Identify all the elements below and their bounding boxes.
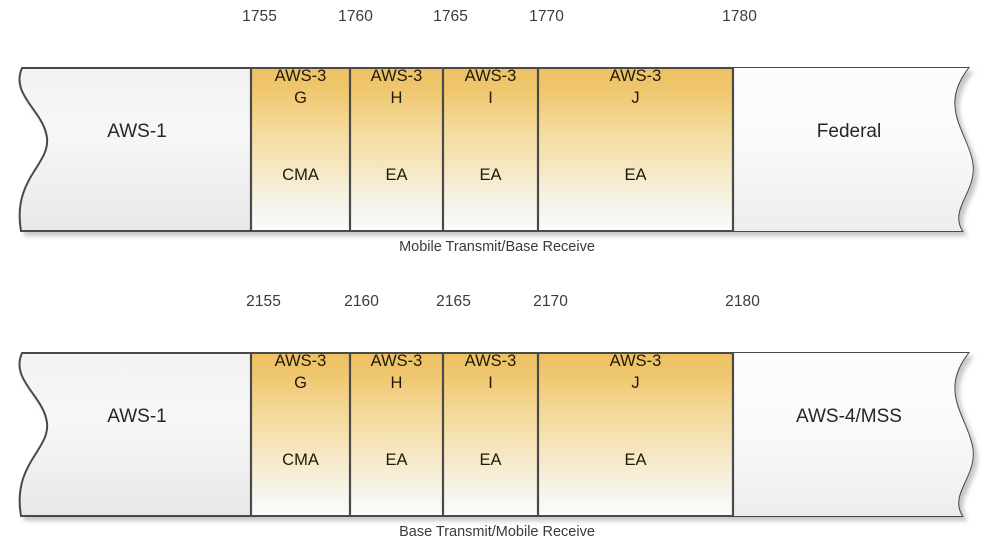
spectrum-bar-graphic-uplink (0, 33, 994, 243)
tick-label: 2160 (344, 293, 379, 311)
band-caption-uplink: Mobile Transmit/Base Receive (0, 236, 994, 258)
band-downlink: 2155 2160 2165 2170 2180 (0, 285, 994, 543)
spectrum-bar-graphic-downlink (0, 318, 994, 528)
tick-row-downlink: 2155 2160 2165 2170 2180 (0, 285, 994, 318)
tick-label: 2155 (246, 293, 281, 311)
tick-label: 1765 (433, 8, 468, 26)
spectrum-bar-uplink: AWS-1 AWS-3 G CMA AWS-3 H EA AWS-3 I EA (0, 33, 994, 233)
spectrum-bar-downlink: AWS-1 AWS-3 G CMA AWS-3 H EA AWS-3 I EA (0, 318, 994, 518)
tick-label: 1780 (722, 8, 757, 26)
tick-label: 2170 (533, 293, 568, 311)
band-uplink: 1755 1760 1765 1770 1780 (0, 0, 994, 258)
band-caption-downlink: Base Transmit/Mobile Receive (0, 521, 994, 543)
tick-row-uplink: 1755 1760 1765 1770 1780 (0, 0, 994, 33)
tick-label: 1760 (338, 8, 373, 26)
spectrum-diagram: 1755 1760 1765 1770 1780 (0, 0, 994, 556)
tick-label: 1755 (242, 8, 277, 26)
tick-label: 2165 (436, 293, 471, 311)
tick-label: 2180 (725, 293, 760, 311)
tick-label: 1770 (529, 8, 564, 26)
